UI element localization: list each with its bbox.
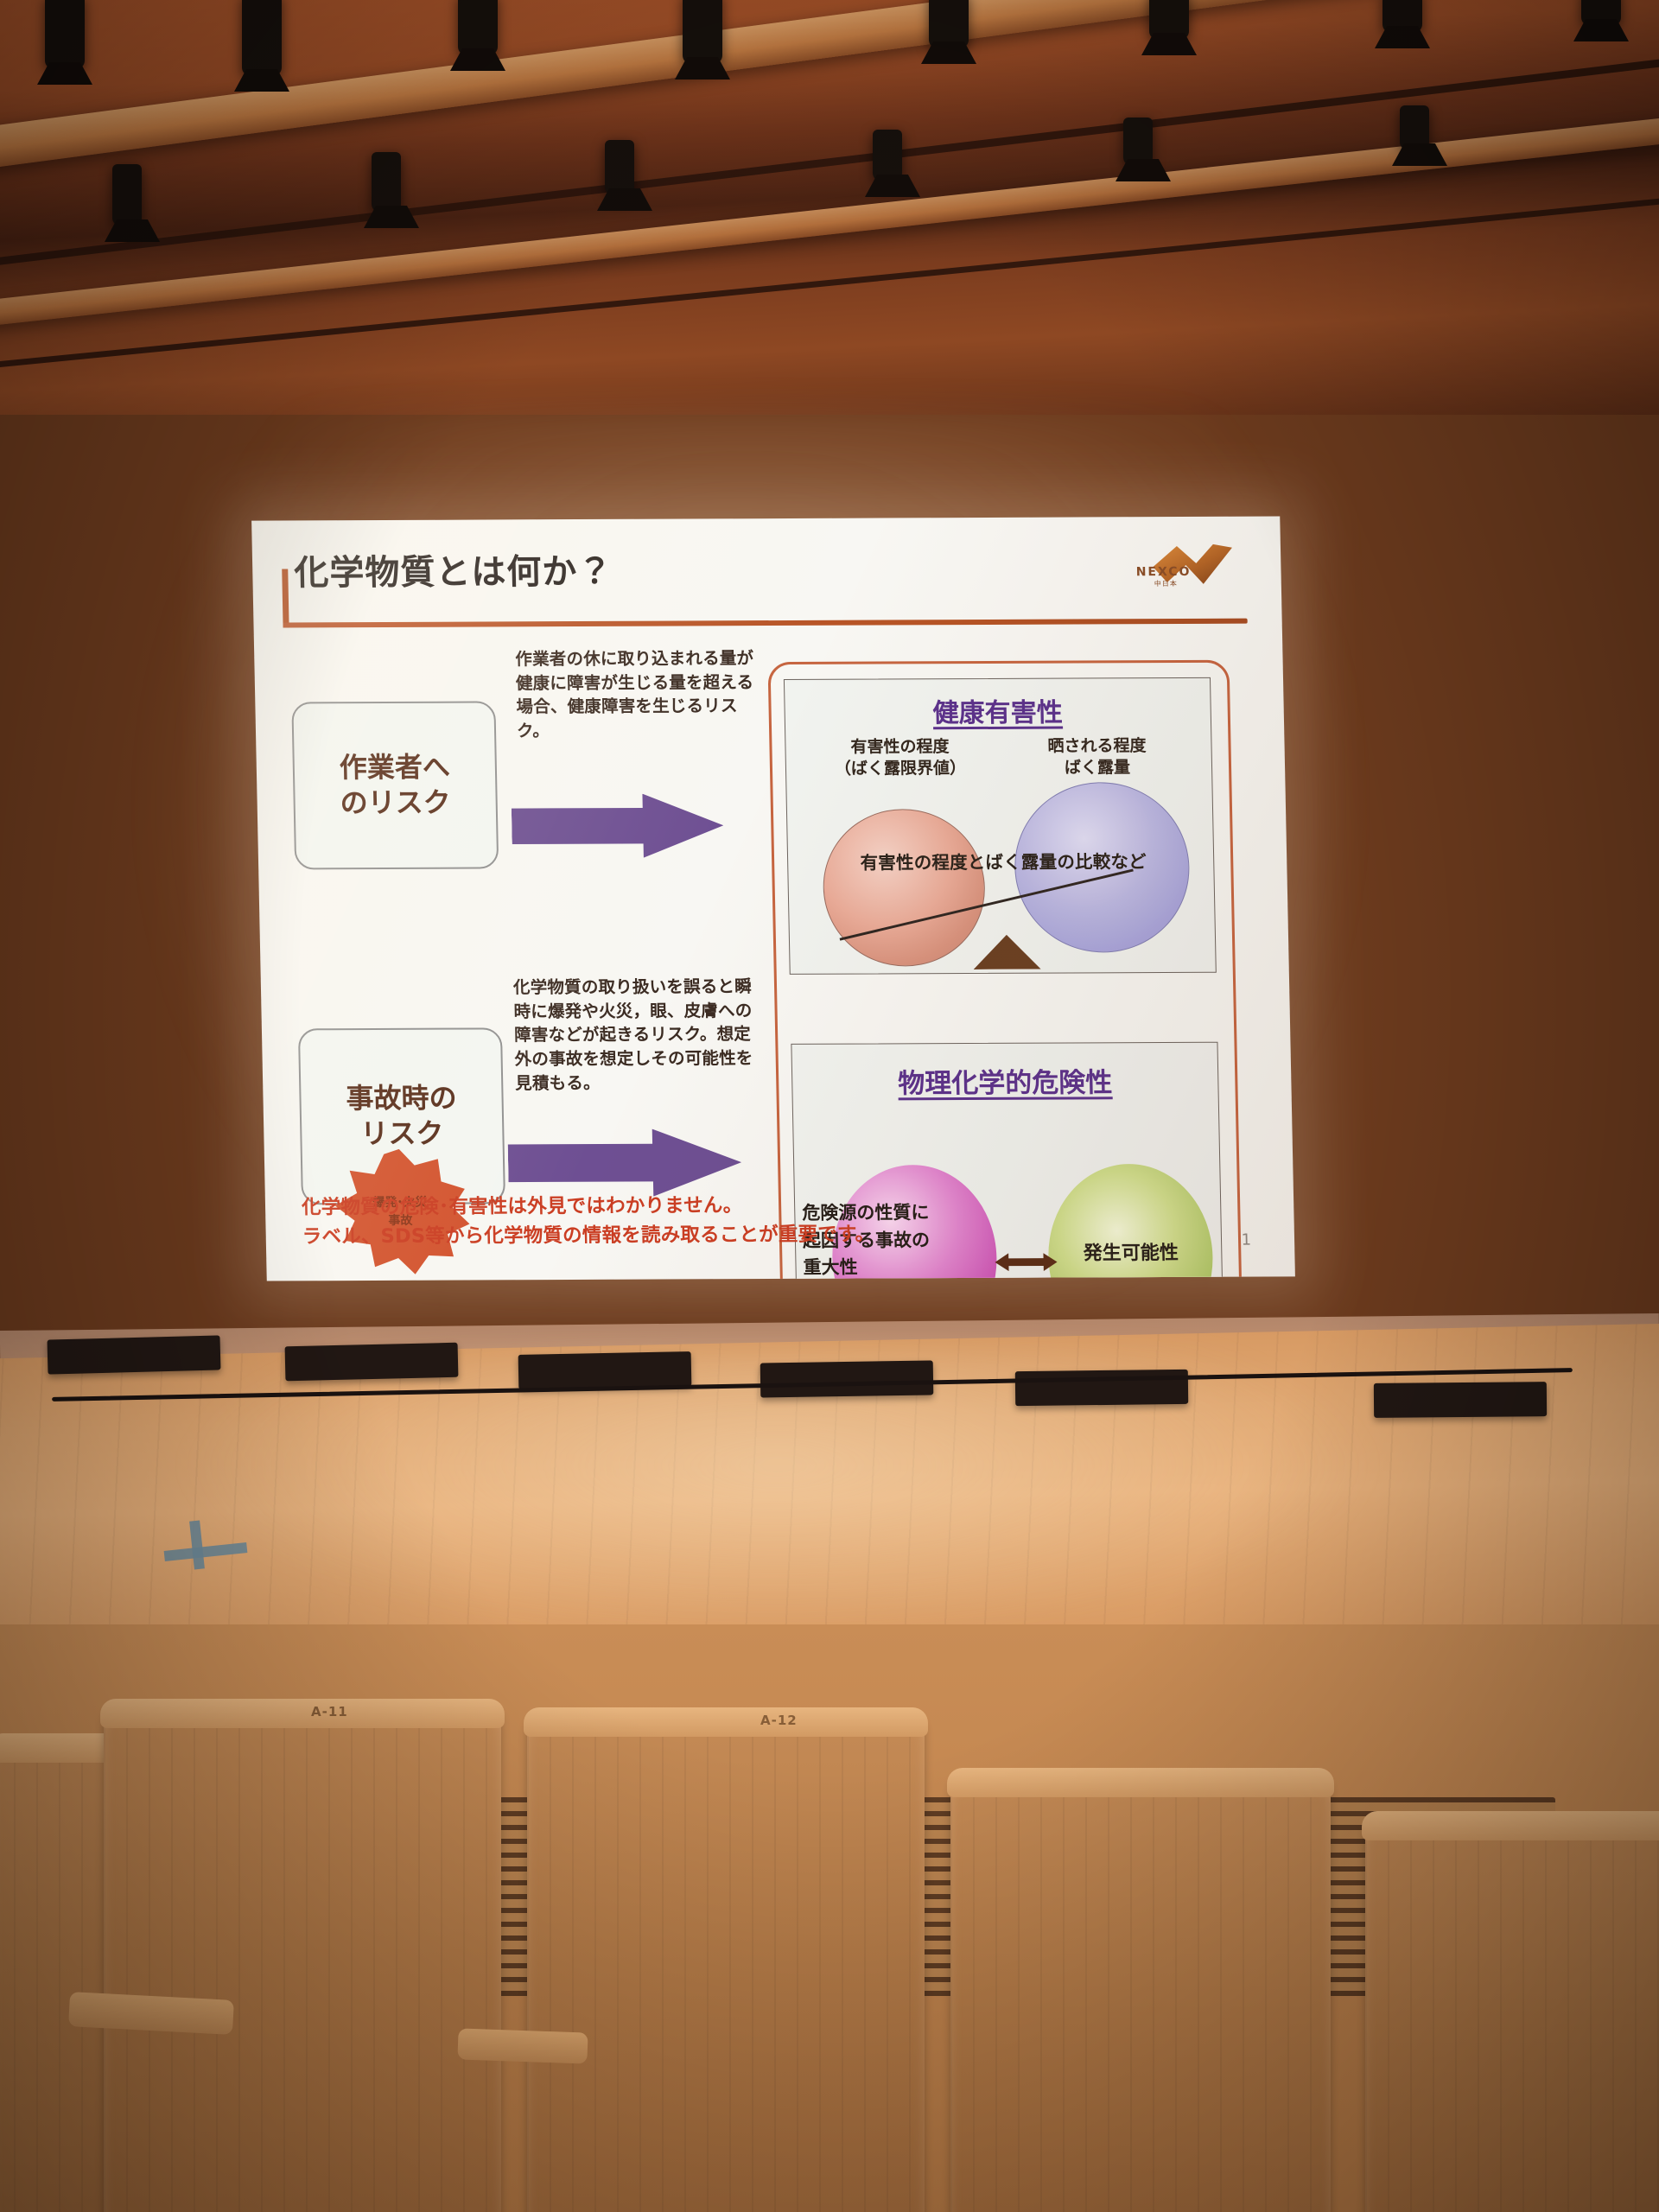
presentation-slide: 化学物質とは何か？ NEXCO 中日本: [251, 516, 1295, 1281]
slide-page-number: 1: [1241, 1231, 1251, 1249]
comparison-overlay-text: 有害性の程度とばく露量の比較など: [800, 847, 1207, 874]
slide-body: 作業者へ のリスク 事故時の リスク 爆発･火災 事故 作業者の休に取り込まれる…: [274, 619, 1274, 1268]
nexco-logo: NEXCO 中日本: [1109, 539, 1240, 592]
description-physical-risk: 化学物質の取り扱いを誤ると瞬時に爆発や火災，眼、皮膚への障害などが起きるリスク。…: [513, 975, 762, 1096]
audience-seat[interactable]: A-12: [527, 1719, 925, 2212]
footlight: [285, 1343, 459, 1382]
footlight: [48, 1335, 221, 1374]
footlight: [1015, 1370, 1188, 1406]
stage-spotlight: [873, 130, 902, 181]
title-accent-tab: [282, 569, 289, 627]
stage-spotlight: [372, 152, 401, 213]
stage-spotlight: [1149, 0, 1189, 40]
stage-spotlight: [605, 140, 634, 195]
risk-worker-line1: 作業者へ: [339, 750, 450, 786]
balance-fulcrum-icon: [973, 935, 1041, 969]
footlight: [1374, 1382, 1547, 1418]
seat-top-cap: [1362, 1811, 1659, 1840]
label-exposure-line1: 晒される程度: [1001, 735, 1192, 758]
label-hazard-degree-line2: （ばく露限界値）: [805, 758, 996, 780]
stage-spotlight: [1382, 0, 1422, 33]
nexco-subtext: 中日本: [1154, 579, 1178, 588]
seat-armrest: [457, 2028, 588, 2063]
stage-spotlight: [1400, 105, 1429, 150]
seat-top-cap: [947, 1768, 1334, 1797]
seat-top-cap: [524, 1707, 928, 1737]
label-hazard-degree-line1: 有害性の程度: [804, 736, 995, 759]
audience-seat[interactable]: [0, 1745, 121, 2212]
audience-seat[interactable]: [1365, 1823, 1659, 2212]
stage-spotlight: [112, 164, 142, 226]
footlight: [518, 1351, 692, 1389]
footer-note-line2: ラベル、SDS等から化学物質の情報を読み取ることが重要です。: [302, 1220, 890, 1251]
hazard-degree-ball-icon: [822, 809, 987, 967]
purple-arrow-physical-icon: [507, 1128, 742, 1197]
description-health-risk: 作業者の休に取り込まれる量が健康に障害が生じる量を超える場合、健康障害を生じるリ…: [515, 646, 763, 743]
ceiling: [0, 0, 1659, 415]
footer-note: 化学物質の危険･有害性は外見ではわかりません。 ラベル、SDS等から化学物質の情…: [302, 1192, 890, 1252]
footer-note-line1: 化学物質の危険･有害性は外見ではわかりません。: [302, 1192, 890, 1223]
auditorium-scene: 化学物質とは何か？ NEXCO 中日本: [0, 0, 1659, 2212]
seat-number-plate: A-12: [760, 1713, 798, 1728]
severity-line3: 重大性: [803, 1254, 1002, 1281]
stage-spotlight: [45, 0, 85, 69]
audience-seat[interactable]: [950, 1780, 1331, 2212]
stage-spotlight: [458, 0, 498, 55]
panel-physical-title: 物理化学的危険性: [792, 1060, 1218, 1101]
stage-spotlight: [929, 0, 969, 48]
risk-accident-line2: リスク: [360, 1116, 444, 1152]
projection-screen: 化学物質とは何か？ NEXCO 中日本: [251, 516, 1295, 1281]
risk-worker-line2: のリスク: [340, 785, 451, 822]
seat-number-plate: A-11: [311, 1704, 348, 1719]
label-exposure-line2: ばく露量: [1002, 757, 1193, 779]
label-exposure-amount: 晒される程度 ばく露量: [1001, 735, 1192, 779]
label-hazard-degree: 有害性の程度 （ばく露限界値）: [804, 736, 995, 779]
stage-spotlight: [683, 0, 722, 64]
audience-seat[interactable]: A-11: [104, 1711, 501, 2212]
slide-header: 化学物質とは何か？ NEXCO 中日本: [275, 536, 1260, 613]
page-title: 化学物質とは何か？: [294, 543, 613, 595]
likelihood-text: 発生可能性: [1055, 1237, 1207, 1266]
audience-seat-row: A-11 A-12: [0, 1624, 1659, 2212]
stage-spotlight: [1581, 0, 1621, 26]
panel-health-hazard: 健康有害性 有害性の程度 （ばく露限界値） 晒される程度 ばく露量 有害性の程度…: [784, 677, 1217, 975]
risk-box-worker: 作業者へ のリスク: [291, 701, 499, 869]
seat-top-cap: [100, 1699, 505, 1728]
risk-accident-line1: 事故時の: [346, 1081, 457, 1117]
stage-spotlight: [1123, 118, 1153, 166]
footlight: [760, 1360, 934, 1397]
purple-arrow-health-icon: [512, 793, 725, 858]
stage-spotlight: [242, 0, 282, 76]
panel-health-title: 健康有害性: [785, 690, 1211, 730]
nexco-wordmark: NEXCO: [1136, 565, 1192, 579]
